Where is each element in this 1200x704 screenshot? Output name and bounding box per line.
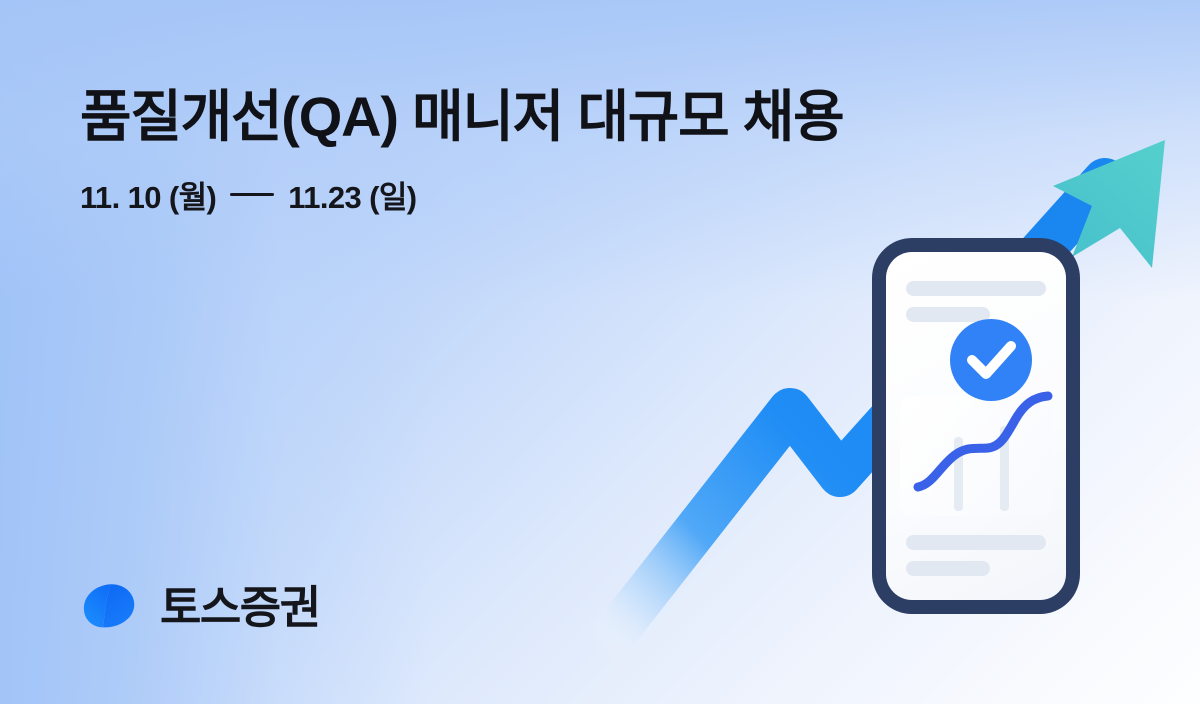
date-separator-icon	[230, 193, 274, 196]
placeholder-line	[906, 535, 1046, 550]
date-range: 11. 10 (월) 11.23 (일)	[80, 172, 843, 217]
placeholder-line	[906, 561, 990, 576]
brand-name: 토스증권	[160, 585, 320, 630]
page-title: 품질개선(QA) 매니저 대규모 채용	[80, 84, 843, 150]
headline-block: 품질개선(QA) 매니저 대규모 채용 11. 10 (월) 11.23 (일)	[80, 84, 843, 217]
date-start: 11. 10 (월)	[80, 172, 216, 217]
recruitment-banner: 품질개선(QA) 매니저 대규모 채용 11. 10 (월) 11.23 (일)	[0, 0, 1200, 704]
chart-card	[900, 396, 1053, 516]
placeholder-line	[906, 281, 1046, 296]
date-end: 11.23 (일)	[288, 172, 416, 217]
toss-logo-icon	[80, 576, 142, 638]
placeholder-line	[906, 307, 990, 322]
check-circle-icon	[950, 319, 1032, 401]
brand-logo: 토스증권	[80, 576, 320, 638]
